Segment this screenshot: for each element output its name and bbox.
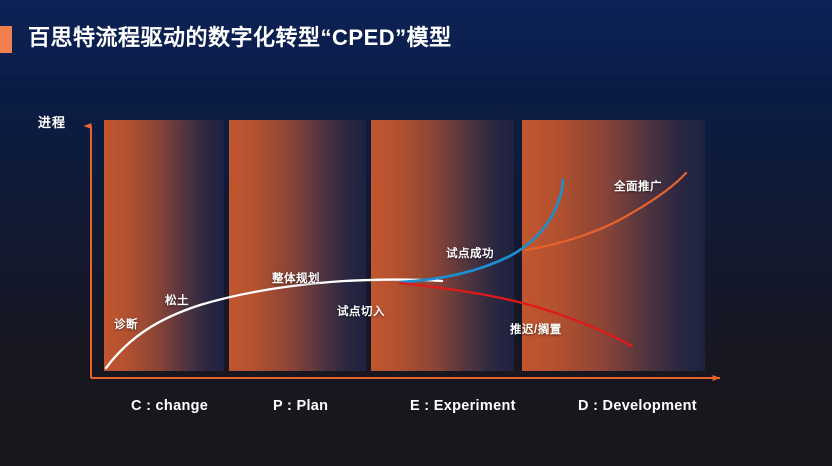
label-pilot-success: 试点成功 xyxy=(446,245,494,261)
y-axis-label: 进程 xyxy=(38,112,66,131)
stage-panel-change xyxy=(104,120,224,371)
label-overall-plan: 整体规划 xyxy=(272,270,320,286)
label-pilot-entry: 试点切入 xyxy=(337,303,385,319)
x-category-change: C : change xyxy=(131,398,208,414)
x-category-plan: P : Plan xyxy=(273,398,328,414)
x-category-experiment: E : Experiment xyxy=(410,398,516,414)
title-band: 百思特流程驱动的数字化转型“CPED”模型 xyxy=(0,0,832,76)
label-postpone-shelve: 推迟/搁置 xyxy=(510,321,562,337)
label-diagnose: 诊断 xyxy=(114,316,138,332)
label-full-rollout: 全面推广 xyxy=(614,178,662,194)
x-category-development: D : Development xyxy=(578,398,697,414)
label-loosen-soil: 松土 xyxy=(165,292,189,308)
stage-panel-plan xyxy=(229,120,366,371)
slide-canvas: 百思特流程驱动的数字化转型“CPED”模型 进程 诊断 松 xyxy=(0,0,832,466)
page-title: 百思特流程驱动的数字化转型“CPED”模型 xyxy=(28,22,452,54)
title-accent-bar xyxy=(0,26,12,53)
